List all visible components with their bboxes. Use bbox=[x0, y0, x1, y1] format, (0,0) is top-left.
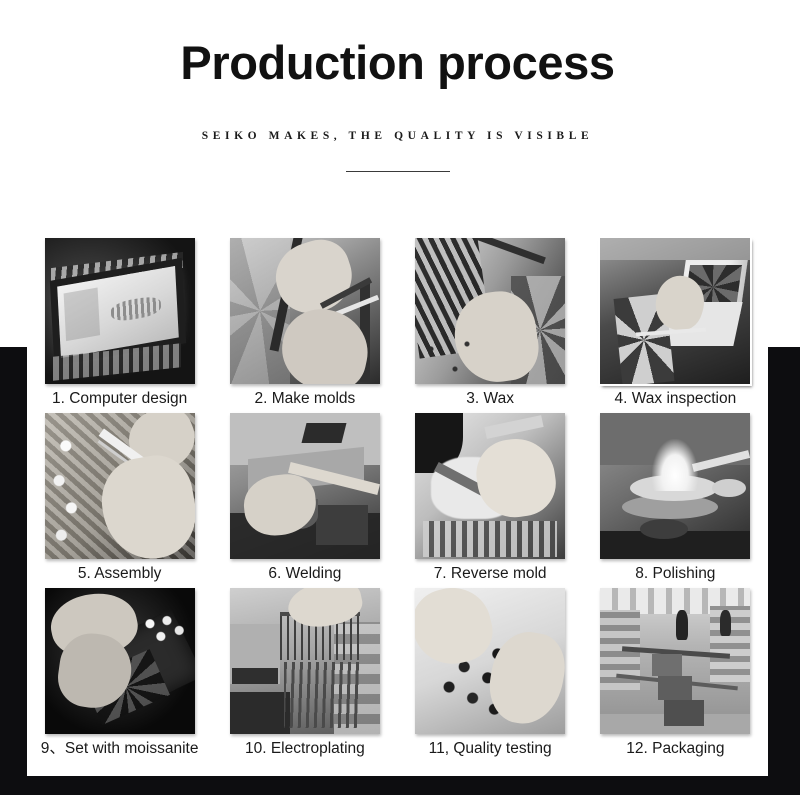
process-step-4[interactable]: 4. Wax inspection bbox=[583, 238, 768, 413]
process-step-7[interactable]: 7. Reverse mold bbox=[398, 413, 583, 588]
process-step-grid: 1. Computer design 2. Make molds bbox=[27, 238, 768, 763]
assembly-photo bbox=[45, 413, 195, 559]
step-caption: 3. Wax bbox=[466, 390, 514, 409]
decorative-bottom-band bbox=[0, 776, 800, 795]
decorative-right-band bbox=[768, 347, 800, 795]
computer-design-photo bbox=[45, 238, 195, 384]
decorative-left-band bbox=[0, 347, 27, 795]
set-with-moissanite-photo bbox=[45, 588, 195, 734]
quality-testing-photo bbox=[415, 588, 565, 734]
process-step-11[interactable]: 11, Quality testing bbox=[398, 588, 583, 763]
process-step-2[interactable]: 2. Make molds bbox=[212, 238, 397, 413]
banner-header: Production process SEIKO MAKES, THE QUAL… bbox=[27, 0, 768, 181]
step-caption: 12. Packaging bbox=[626, 740, 724, 759]
reverse-mold-photo bbox=[415, 413, 565, 559]
step-caption: 10. Electroplating bbox=[245, 740, 365, 759]
process-step-1[interactable]: 1. Computer design bbox=[27, 238, 212, 413]
divider-wrapper bbox=[27, 142, 768, 181]
step-caption: 2. Make molds bbox=[254, 390, 355, 409]
step-caption: 1. Computer design bbox=[52, 390, 187, 409]
process-step-5[interactable]: 5. Assembly bbox=[27, 413, 212, 588]
page-title: Production process bbox=[27, 0, 768, 88]
wax-photo bbox=[415, 238, 565, 384]
step-caption: 9、Set with moissanite bbox=[41, 740, 199, 759]
process-step-3[interactable]: 3. Wax bbox=[398, 238, 583, 413]
step-caption: 11, Quality testing bbox=[429, 740, 552, 759]
content-panel: Production process SEIKO MAKES, THE QUAL… bbox=[27, 0, 768, 773]
polishing-photo bbox=[600, 413, 750, 559]
process-step-10[interactable]: 10. Electroplating bbox=[212, 588, 397, 763]
packaging-photo bbox=[600, 588, 750, 734]
electroplating-photo bbox=[230, 588, 380, 734]
step-caption: 4. Wax inspection bbox=[614, 390, 736, 409]
header-divider bbox=[346, 171, 450, 172]
process-step-6[interactable]: 6. Welding bbox=[212, 413, 397, 588]
process-step-8[interactable]: 8. Polishing bbox=[583, 413, 768, 588]
wax-inspection-photo bbox=[600, 238, 750, 384]
step-caption: 8. Polishing bbox=[635, 565, 715, 584]
welding-photo bbox=[230, 413, 380, 559]
page-subtitle: SEIKO MAKES, THE QUALITY IS VISIBLE bbox=[27, 88, 768, 142]
process-step-12[interactable]: 12. Packaging bbox=[583, 588, 768, 763]
production-process-banner: Production process SEIKO MAKES, THE QUAL… bbox=[0, 0, 800, 795]
step-caption: 7. Reverse mold bbox=[434, 565, 547, 584]
step-caption: 6. Welding bbox=[268, 565, 341, 584]
step-caption: 5. Assembly bbox=[78, 565, 162, 584]
process-step-9[interactable]: 9、Set with moissanite bbox=[27, 588, 212, 763]
make-molds-photo bbox=[230, 238, 380, 384]
